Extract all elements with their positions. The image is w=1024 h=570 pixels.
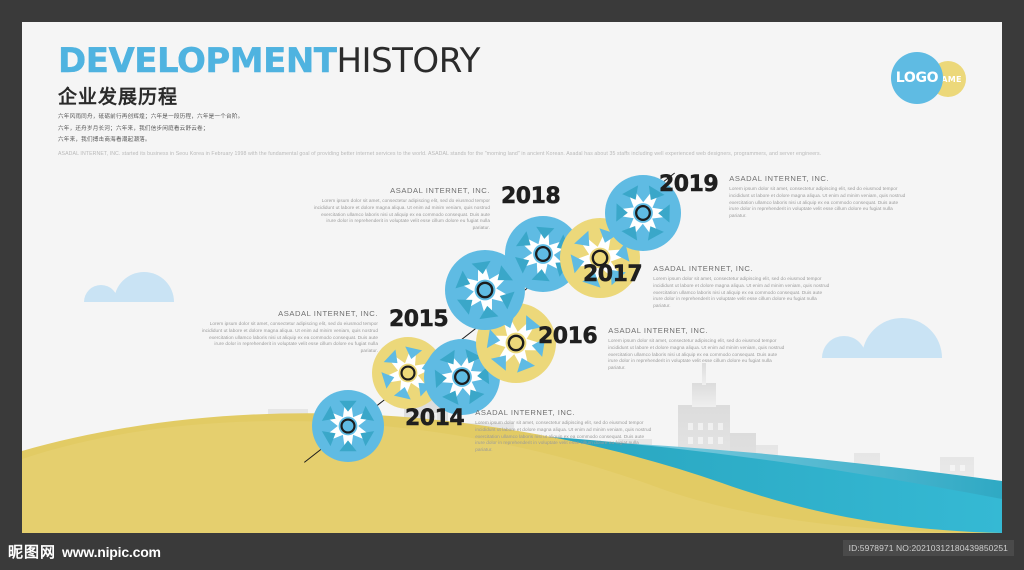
milestone-year: 2019 [659,174,718,196]
milestone-description: Lorem ipsum dolor sit amet, consectetur … [475,420,653,454]
milestone-description: Lorem ipsum dolor sit amet, consectetur … [653,276,831,310]
milestone-text: ASADAL INTERNET, INC.Lorem ipsum dolor s… [608,326,786,372]
milestone-description: Lorem ipsum dolor sit amet, consectetur … [729,186,907,220]
milestone-2017: 2017ASADAL INTERNET, INC.Lorem ipsum dol… [583,264,831,310]
title-word-development: DEVELOPMENT [58,41,336,81]
asset-id-badge: ID:5978971 NO:20210312180439850251 [843,540,1014,556]
milestone-year: 2018 [501,186,560,208]
english-description: ASADAL INTERNET, INC. started its busine… [58,151,293,158]
chinese-tagline-lines: 六年风雨同舟，砥砺前行再创辉煌；六年是一段历程，六年是一个台阶。 六年，还舟岁月… [58,115,480,144]
milestone-2018: ASADAL INTERNET, INC.Lorem ipsum dolor s… [312,186,560,232]
milestone-description: Lorem ipsum dolor sit amet, consectetur … [312,198,490,232]
milestone-year: 2016 [538,326,597,348]
milestone-text: ASADAL INTERNET, INC.Lorem ipsum dolor s… [312,186,490,232]
page-title: DEVELOPMENTHISTORY [58,44,480,78]
tagline-line: 六年风雨同舟，砥砺前行再创辉煌；六年是一段历程，六年是一个台阶。 [58,115,480,121]
milestone-year: 2015 [389,309,448,331]
milestone-company: ASADAL INTERNET, INC. [312,186,490,195]
milestone-company: ASADAL INTERNET, INC. [475,408,653,417]
milestone-description: Lorem ipsum dolor sit amet, consectetur … [608,338,786,372]
title-word-history: HISTORY [336,41,479,81]
subtitle-chinese: 企业发展历程 [58,82,480,109]
milestone-description: Lorem ipsum dolor sit amet, consectetur … [200,321,378,355]
cloud-shape [84,272,178,302]
tagline-line: 六年，还舟岁月长河；六年来，我们信步闲庭看云舒云卷； [58,127,480,133]
milestone-year: 2014 [405,408,464,430]
site-name-cn: 昵图网 [8,541,56,562]
poster-artboard: DEVELOPMENTHISTORY 企业发展历程 六年风雨同舟，砥砺前行再创辉… [22,22,1002,533]
milestone-text: ASADAL INTERNET, INC.Lorem ipsum dolor s… [200,309,378,355]
milestone-text: ASADAL INTERNET, INC.Lorem ipsum dolor s… [475,408,653,454]
milestone-2019: 2019ASADAL INTERNET, INC.Lorem ipsum dol… [659,174,907,220]
footer-bar: 昵图网 www.nipic.com ID:5978971 NO:20210312… [0,533,1024,570]
milestone-2016: 2016ASADAL INTERNET, INC.Lorem ipsum dol… [538,326,786,372]
milestone-company: ASADAL INTERNET, INC. [653,264,831,273]
logo-main-circle: LOGO [891,52,943,104]
poster-canvas: DEVELOPMENTHISTORY 企业发展历程 六年风雨同舟，砥砺前行再创辉… [0,0,1024,570]
milestone-year: 2017 [583,264,642,286]
milestone-text: ASADAL INTERNET, INC.Lorem ipsum dolor s… [653,264,831,310]
logo[interactable]: NAME LOGO [856,52,966,104]
milestone-2014: 2014ASADAL INTERNET, INC.Lorem ipsum dol… [405,408,653,454]
milestone-2015: ASADAL INTERNET, INC.Lorem ipsum dolor s… [200,309,448,355]
site-url: www.nipic.com [62,544,161,560]
milestone-company: ASADAL INTERNET, INC. [200,309,378,318]
cloud-shape [822,318,946,358]
site-watermark: 昵图网 www.nipic.com [8,541,161,562]
milestone-company: ASADAL INTERNET, INC. [608,326,786,335]
logo-main-text: LOGO [896,70,939,86]
milestone-text: ASADAL INTERNET, INC.Lorem ipsum dolor s… [729,174,907,220]
tagline-line: 六年来，我们搏击商海看潮起潮落。 [58,138,480,144]
milestone-company: ASADAL INTERNET, INC. [729,174,907,183]
header-block: DEVELOPMENTHISTORY 企业发展历程 六年风雨同舟，砥砺前行再创辉… [58,44,480,158]
